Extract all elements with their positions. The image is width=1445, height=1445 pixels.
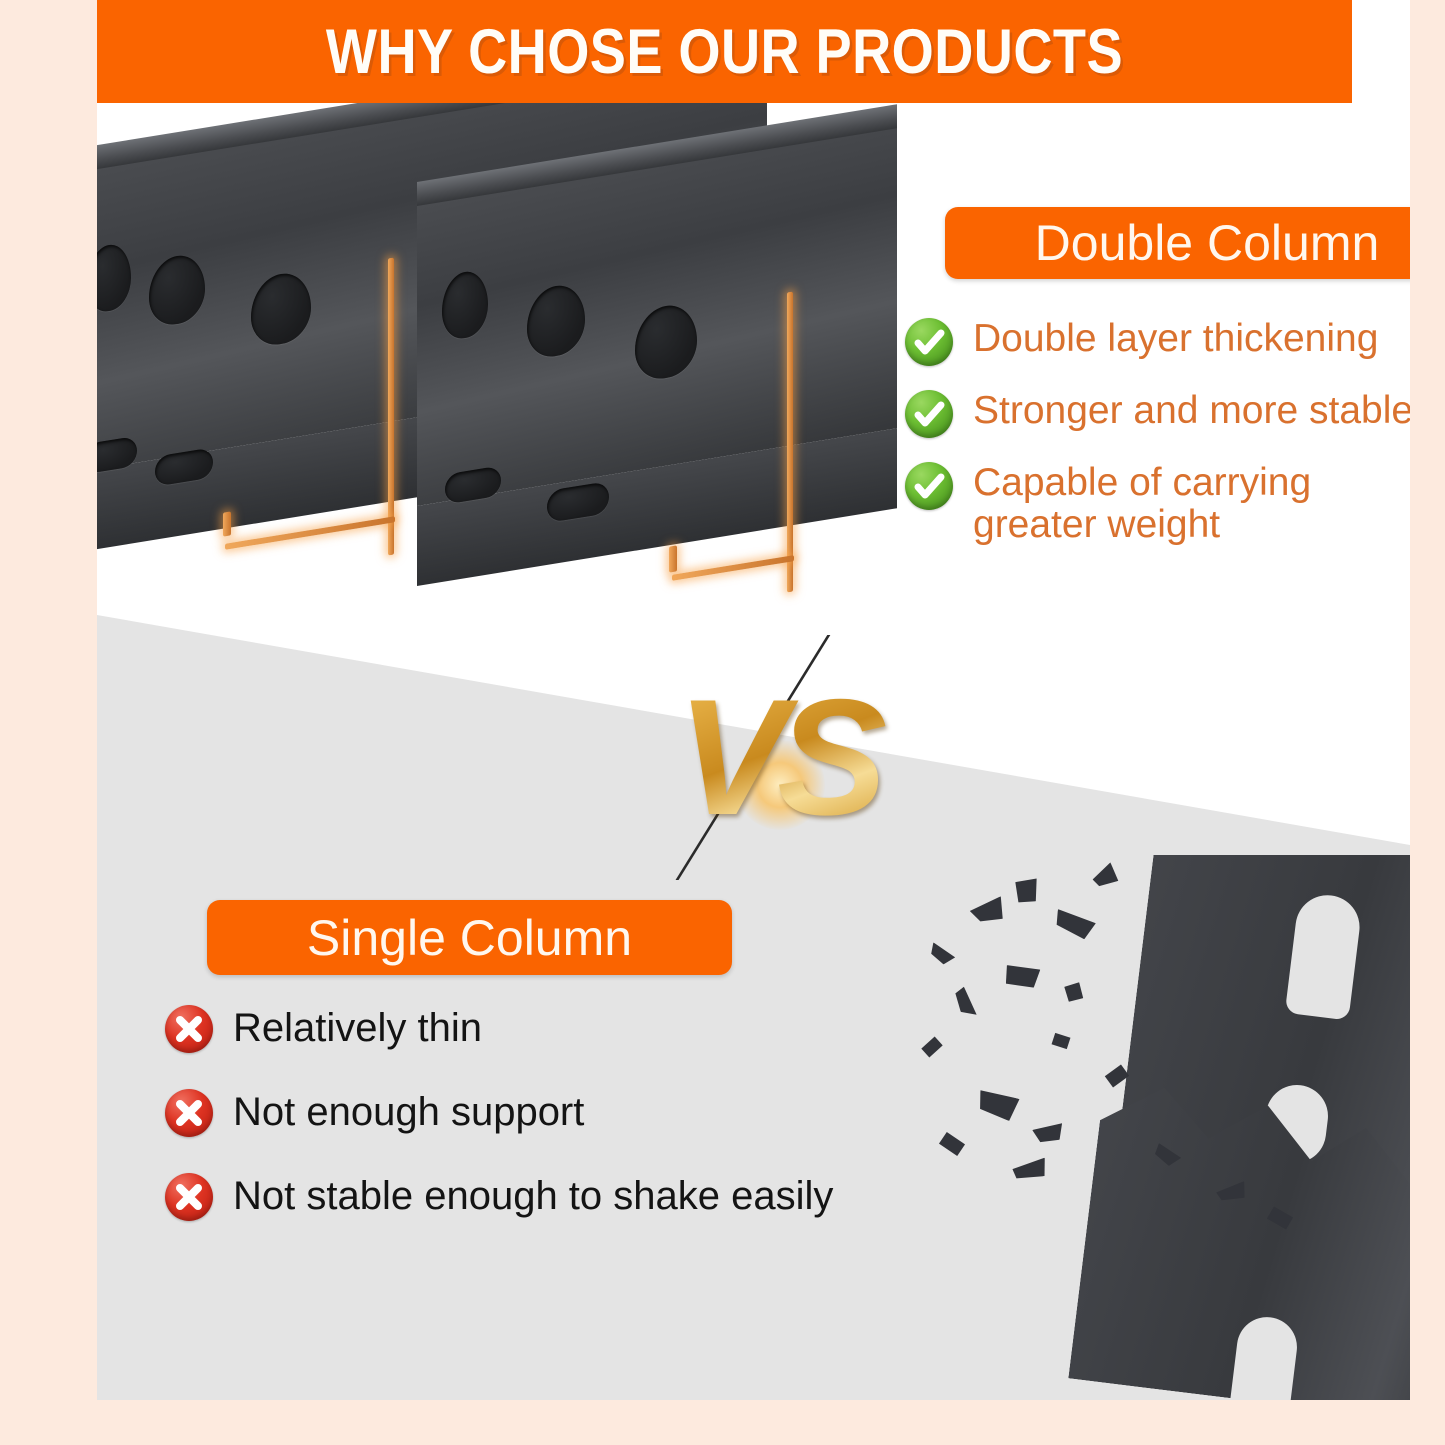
single-column-badge-label: Single Column	[307, 909, 632, 967]
check-icon	[905, 318, 953, 366]
page-title: WHY CHOSE OUR PRODUCTS	[326, 16, 1123, 88]
debris-fragment	[1052, 1033, 1071, 1049]
debris-fragment	[1090, 862, 1121, 891]
check-icon	[905, 462, 953, 510]
list-item-label: Stronger and more stable	[973, 390, 1410, 432]
list-item: Capable of carrying greater weight	[905, 462, 1410, 546]
double-column-badge-label: Double Column	[1035, 214, 1380, 272]
list-item: Not stable enough to shake easily	[165, 1173, 925, 1221]
header-banner: WHY CHOSE OUR PRODUCTS	[97, 0, 1352, 103]
list-item: Relatively thin	[165, 1005, 925, 1053]
debris-fragment	[1003, 961, 1042, 992]
debris-fragment	[968, 896, 1007, 927]
debris-fragment	[1012, 1158, 1049, 1183]
debris-fragment	[927, 942, 957, 967]
double-column-badge: Double Column	[945, 207, 1410, 279]
list-item: Stronger and more stable	[905, 390, 1410, 438]
debris-fragment	[1053, 909, 1097, 941]
debris-fragment	[950, 987, 983, 1022]
debris-fragment	[974, 1088, 1019, 1122]
debris-fragment	[1007, 870, 1048, 911]
list-item-label: Not stable enough to shake easily	[233, 1175, 833, 1218]
double-column-benefits-list: Double layer thickening Stronger and mor…	[905, 318, 1410, 570]
cross-icon	[165, 1005, 213, 1053]
debris-fragment	[939, 1132, 965, 1156]
check-icon	[905, 390, 953, 438]
list-item: Not enough support	[165, 1089, 925, 1137]
single-column-broken-post-photo	[917, 855, 1410, 1400]
infographic-page: VS Double Column Double layer thickening…	[0, 0, 1445, 1445]
cross-icon	[165, 1089, 213, 1137]
debris-fragment	[1059, 977, 1089, 1007]
list-item-label: Relatively thin	[233, 1007, 482, 1050]
debris-fragment	[1032, 1118, 1068, 1148]
list-item-label: Capable of carrying greater weight	[973, 462, 1363, 546]
list-item: Double layer thickening	[905, 318, 1410, 366]
list-item-label: Not enough support	[233, 1091, 584, 1134]
cross-icon	[165, 1173, 213, 1221]
double-column-product-photo	[97, 140, 887, 620]
list-item-label: Double layer thickening	[973, 318, 1378, 360]
single-column-badge: Single Column	[207, 900, 732, 975]
content-canvas: VS Double Column Double layer thickening…	[97, 0, 1410, 1400]
single-column-drawbacks-list: Relatively thin Not enough support Not s…	[165, 1005, 925, 1257]
versus-emblem: VS	[617, 635, 937, 880]
versus-label: VS	[617, 635, 937, 880]
